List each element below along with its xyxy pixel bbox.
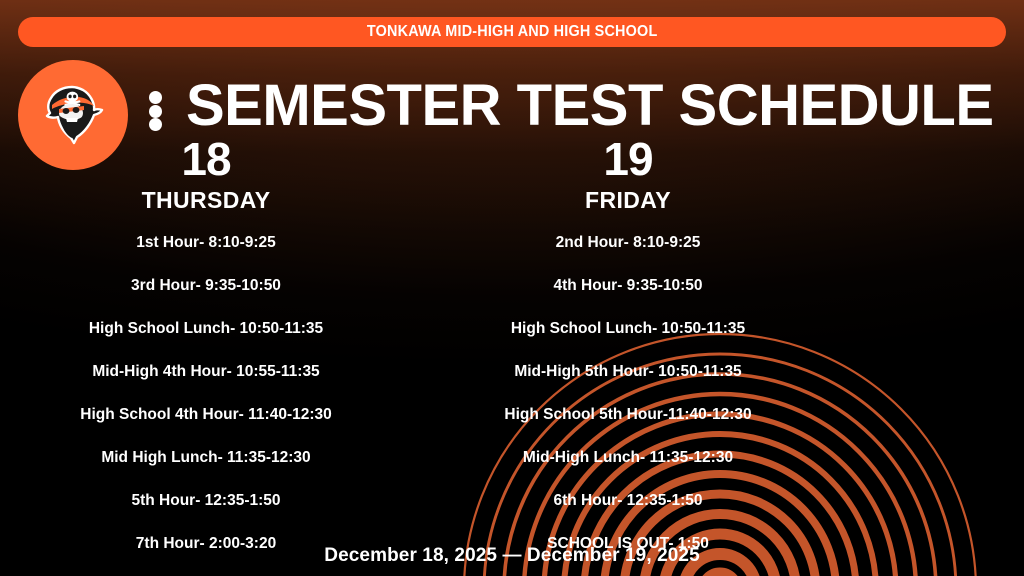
schedule-columns: 18 THURSDAY 1st Hour- 8:10-9:25 3rd Hour…	[0, 135, 1024, 565]
schedule-row: Mid-High 4th Hour- 10:55-11:35	[92, 350, 319, 393]
poster-canvas: TONKAWA MID-HIGH AND HIGH SCHOOL	[0, 0, 1024, 576]
schedule-row: 3rd Hour- 9:35-10:50	[131, 264, 281, 307]
day-name: THURSDAY	[142, 185, 271, 215]
schedule-row: 5th Hour- 12:35-1:50	[131, 479, 280, 522]
schedule-row: 4th Hour- 9:35-10:50	[553, 264, 702, 307]
schedule-row: High School 5th Hour-11:40-12:30	[504, 393, 751, 436]
schedule-row: 1st Hour- 8:10-9:25	[136, 221, 276, 264]
school-name-banner: TONKAWA MID-HIGH AND HIGH SCHOOL	[18, 17, 1006, 47]
schedule-row: High School Lunch- 10:50-11:35	[511, 307, 745, 350]
day-column-friday: 19 FRIDAY 2nd Hour- 8:10-9:25 4th Hour- …	[512, 135, 1024, 565]
day-number: 19	[603, 135, 652, 183]
ellipsis-dot-2	[149, 105, 162, 118]
schedule-rows-thursday: 1st Hour- 8:10-9:25 3rd Hour- 9:35-10:50…	[0, 221, 412, 565]
ellipsis-dot-3	[149, 118, 162, 131]
vertical-ellipsis-icon[interactable]	[147, 91, 164, 131]
schedule-rows-friday: 2nd Hour- 8:10-9:25 4th Hour- 9:35-10:50…	[512, 221, 744, 565]
schedule-row: Mid High Lunch- 11:35-12:30	[101, 436, 310, 479]
day-name: FRIDAY	[585, 185, 671, 215]
schedule-row: High School Lunch- 10:50-11:35	[89, 307, 323, 350]
ellipsis-dot-1	[149, 91, 162, 104]
date-range-label: December 18, 2025 — December 19, 2025	[0, 545, 1024, 567]
schedule-row: High School 4th Hour- 11:40-12:30	[80, 393, 332, 436]
day-number: 18	[181, 135, 230, 183]
schedule-row: 6th Hour- 12:35-1:50	[553, 479, 702, 522]
schedule-row: Mid-High Lunch- 11:35-12:30	[523, 436, 733, 479]
school-name-text: TONKAWA MID-HIGH AND HIGH SCHOOL	[367, 23, 658, 41]
day-column-thursday: 18 THURSDAY 1st Hour- 8:10-9:25 3rd Hour…	[0, 135, 512, 565]
page-title: SEMESTER TEST SCHEDULE	[186, 72, 986, 140]
schedule-row: Mid-High 5th Hour- 10:50-11:35	[514, 350, 741, 393]
schedule-row: 2nd Hour- 8:10-9:25	[556, 221, 701, 264]
